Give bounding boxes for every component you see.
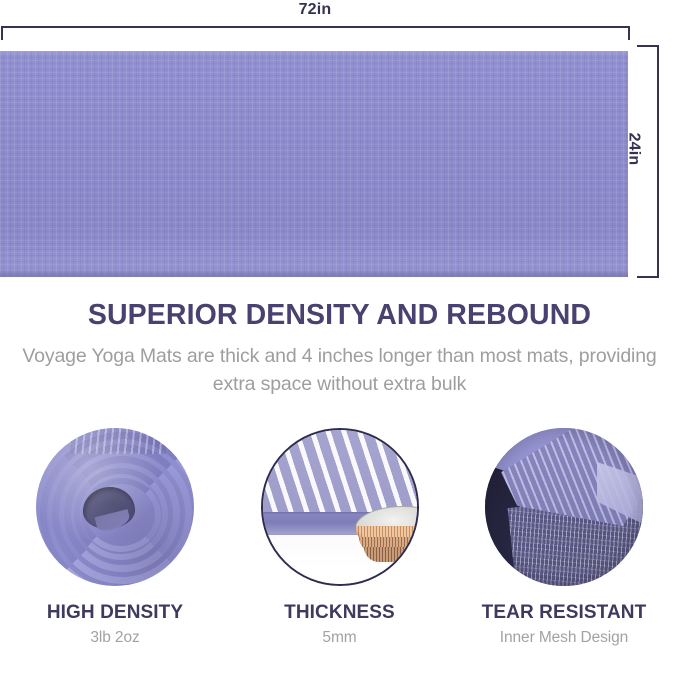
folded-mat-mesh-photo <box>485 428 643 586</box>
feature-subtitle: 5mm <box>322 629 356 647</box>
coin-rim <box>364 547 419 562</box>
photo-vignette <box>485 428 643 586</box>
feature-title: HIGH DENSITY <box>47 602 183 624</box>
rolled-yoga-mat-photo <box>36 428 194 586</box>
mat-width-label: 72in <box>0 1 630 19</box>
feature-list: HIGH DENSITY 3lb 2oz THICKNESS 5mm TEAR … <box>0 428 679 689</box>
width-dimension-bracket <box>1 26 630 40</box>
feature-tear-resistant: TEAR RESISTANT Inner Mesh Design <box>461 428 667 647</box>
yoga-mat-product-image <box>0 51 628 277</box>
page-title: SUPERIOR DENSITY AND REBOUND <box>0 300 679 332</box>
feature-title: TEAR RESISTANT <box>482 602 647 624</box>
feature-subtitle: Inner Mesh Design <box>500 629 628 647</box>
mat-dimension-diagram: 72in 24in <box>0 0 679 290</box>
feature-thickness: THICKNESS 5mm <box>237 428 443 647</box>
feature-subtitle: 3lb 2oz <box>90 629 139 647</box>
headline-block: SUPERIOR DENSITY AND REBOUND Voyage Yoga… <box>0 300 679 398</box>
mat-surface-texture <box>261 428 419 512</box>
feature-high-density: HIGH DENSITY 3lb 2oz <box>12 428 218 647</box>
feature-title: THICKNESS <box>284 602 395 624</box>
mat-height-label: 24in <box>624 133 642 166</box>
mat-thickness-coins-photo <box>261 428 419 586</box>
page-subtitle: Voyage Yoga Mats are thick and 4 inches … <box>9 343 671 398</box>
photo-sheen <box>36 428 194 586</box>
